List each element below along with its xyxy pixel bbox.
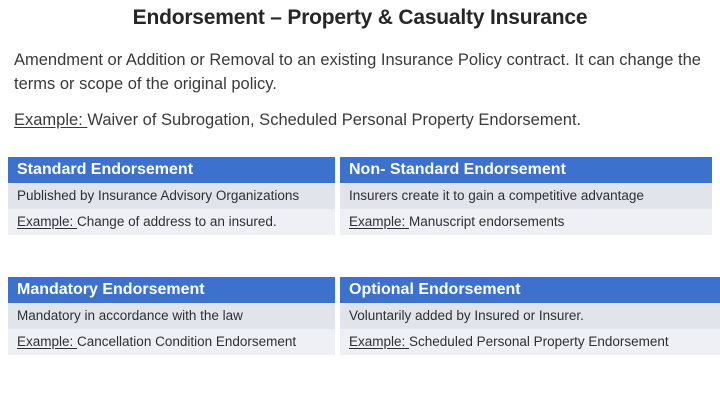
example-label: Example: xyxy=(17,334,77,349)
table-cell-text: Mandatory in accordance with the law xyxy=(17,308,243,323)
table-cell-text: Change of address to an insured. xyxy=(77,214,277,229)
table-row: Mandatory in accordance with the law xyxy=(8,303,335,329)
table-column-mandatory: Mandatory Endorsement Mandatory in accor… xyxy=(8,277,335,355)
table-row: Example: Manuscript endorsements xyxy=(340,209,712,235)
example-label: Example: xyxy=(14,111,87,129)
table-column-standard: Standard Endorsement Published by Insura… xyxy=(8,157,335,235)
table-header-non-standard-endorsement: Non- Standard Endorsement xyxy=(340,157,712,183)
table-cell-text: Published by Insurance Advisory Organiza… xyxy=(17,188,299,203)
table-row: Example: Scheduled Personal Property End… xyxy=(340,329,720,355)
table-cell-text: Manuscript endorsements xyxy=(409,214,564,229)
example-text: Waiver of Subrogation, Scheduled Persona… xyxy=(87,111,581,129)
table-row: Voluntarily added by Insured or Insurer. xyxy=(340,303,720,329)
table-column-optional: Optional Endorsement Voluntarily added b… xyxy=(340,277,720,355)
table-row: Example: Change of address to an insured… xyxy=(8,209,335,235)
example-label: Example: xyxy=(349,334,409,349)
example-line: Example: Waiver of Subrogation, Schedule… xyxy=(14,108,714,132)
definition-paragraph: Amendment or Addition or Removal to an e… xyxy=(14,48,708,96)
table-cell-text: Scheduled Personal Property Endorsement xyxy=(409,334,669,349)
table-cell-text: Cancellation Condition Endorsement xyxy=(77,334,296,349)
table-row: Insurers create it to gain a competitive… xyxy=(340,183,712,209)
table-header-mandatory-endorsement: Mandatory Endorsement xyxy=(8,277,335,303)
example-label: Example: xyxy=(349,214,409,229)
comparison-table-1: Standard Endorsement Published by Insura… xyxy=(8,157,712,235)
table-cell-text: Insurers create it to gain a competitive… xyxy=(349,188,644,203)
table-row: Published by Insurance Advisory Organiza… xyxy=(8,183,335,209)
example-label: Example: xyxy=(17,214,77,229)
comparison-table-2: Mandatory Endorsement Mandatory in accor… xyxy=(8,277,720,355)
table-column-non-standard: Non- Standard Endorsement Insurers creat… xyxy=(340,157,712,235)
page-title: Endorsement – Property & Casualty Insura… xyxy=(0,6,720,30)
table-header-standard-endorsement: Standard Endorsement xyxy=(8,157,335,183)
table-cell-text: Voluntarily added by Insured or Insurer. xyxy=(349,308,584,323)
table-header-optional-endorsement: Optional Endorsement xyxy=(340,277,720,303)
table-row: Example: Cancellation Condition Endorsem… xyxy=(8,329,335,355)
